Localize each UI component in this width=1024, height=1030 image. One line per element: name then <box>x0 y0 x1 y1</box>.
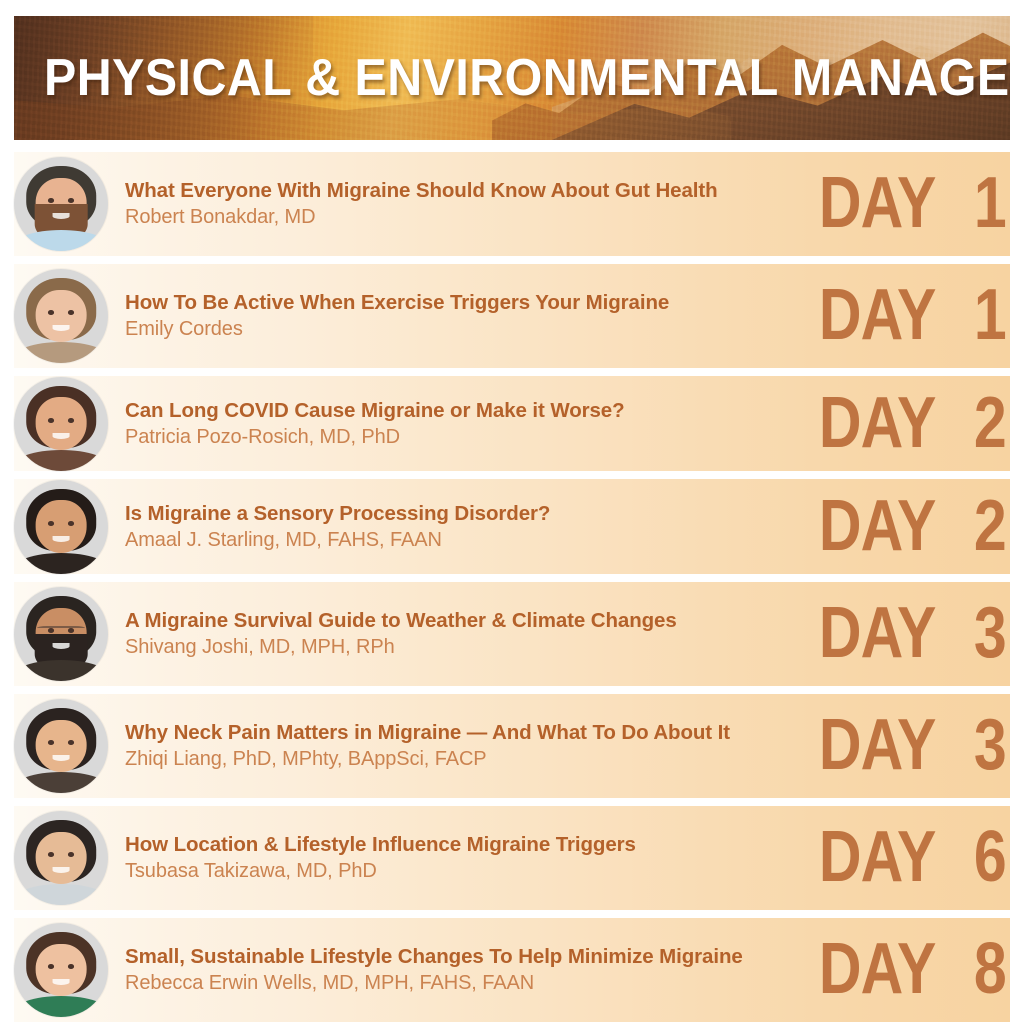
avatar-mouth <box>53 213 70 219</box>
session-title: Why Neck Pain Matters in Migraine — And … <box>125 720 814 746</box>
session-author: Zhiqi Liang, PhD, MPhty, BAppSci, FACP <box>125 747 814 772</box>
session-day-badge: DAY3 <box>806 715 1010 777</box>
avatar-mouth <box>53 755 70 761</box>
session-title: How To Be Active When Exercise Triggers … <box>125 290 814 316</box>
header-banner: PHYSICAL & ENVIRONMENTAL MANAGEMENT <box>14 16 1010 140</box>
avatar-face <box>14 269 108 363</box>
avatar-shoulders <box>14 996 108 1017</box>
avatar-shoulders <box>14 230 108 251</box>
day-label: DAY <box>818 715 935 777</box>
avatar-skin <box>36 832 87 885</box>
day-label: DAY <box>818 603 935 665</box>
session-day-badge: DAY1 <box>806 173 1010 235</box>
day-label: DAY <box>818 827 935 889</box>
session-row[interactable]: How Location & Lifestyle Influence Migra… <box>0 806 1024 910</box>
day-label: DAY <box>818 393 935 455</box>
session-row[interactable]: A Migraine Survival Guide to Weather & C… <box>0 582 1024 686</box>
avatar-glasses <box>37 626 86 636</box>
day-label: DAY <box>818 939 935 1001</box>
avatar-mouth <box>53 536 70 542</box>
day-number: 6 <box>968 827 1006 889</box>
session-row[interactable]: What Everyone With Migraine Should Know … <box>0 152 1024 256</box>
session-list: What Everyone With Migraine Should Know … <box>0 152 1024 1030</box>
avatar-face <box>14 377 108 471</box>
session-text: What Everyone With Migraine Should Know … <box>125 178 814 230</box>
session-author: Patricia Pozo-Rosich, MD, PhD <box>125 425 814 450</box>
session-day-badge: DAY8 <box>806 939 1010 1001</box>
avatar-face <box>14 923 108 1017</box>
day-label: DAY <box>818 496 935 558</box>
avatar-skin <box>36 944 87 997</box>
avatar-face <box>14 480 108 574</box>
avatar-shoulders <box>14 772 108 793</box>
avatar-mouth <box>53 867 70 873</box>
avatar-face <box>14 157 108 251</box>
session-author: Rebecca Erwin Wells, MD, MPH, FAHS, FAAN <box>125 971 814 996</box>
day-number: 2 <box>968 393 1006 455</box>
session-title: Is Migraine a Sensory Processing Disorde… <box>125 500 814 526</box>
session-row[interactable]: Why Neck Pain Matters in Migraine — And … <box>0 694 1024 798</box>
avatar-skin <box>36 290 87 343</box>
session-day-badge: DAY2 <box>806 496 1010 558</box>
avatar-shoulders <box>14 553 108 574</box>
avatar-shoulders <box>14 342 108 363</box>
session-text: A Migraine Survival Guide to Weather & C… <box>125 608 814 660</box>
avatar-amaal-starling <box>14 480 108 574</box>
avatar-robert-bonakdar <box>14 157 108 251</box>
session-title: How Location & Lifestyle Influence Migra… <box>125 832 814 858</box>
session-row[interactable]: Can Long COVID Cause Migraine or Make it… <box>0 376 1024 471</box>
avatar-face <box>14 811 108 905</box>
avatar-mouth <box>53 979 70 985</box>
avatar-face <box>14 587 108 681</box>
day-number: 8 <box>968 939 1006 1001</box>
session-row[interactable]: How To Be Active When Exercise Triggers … <box>0 264 1024 368</box>
session-author: Robert Bonakdar, MD <box>125 205 814 230</box>
avatar-face <box>14 699 108 793</box>
avatar-shoulders <box>14 884 108 905</box>
avatar-skin <box>36 500 87 553</box>
avatar-rebecca-erwin-wells <box>14 923 108 1017</box>
session-day-badge: DAY3 <box>806 603 1010 665</box>
session-text: How Location & Lifestyle Influence Migra… <box>125 832 814 884</box>
day-number: 3 <box>968 715 1006 777</box>
session-text: Is Migraine a Sensory Processing Disorde… <box>125 500 814 552</box>
avatar-emily-cordes <box>14 269 108 363</box>
session-title: Small, Sustainable Lifestyle Changes To … <box>125 944 814 970</box>
session-author: Amaal J. Starling, MD, FAHS, FAAN <box>125 528 814 553</box>
day-number: 2 <box>968 496 1006 558</box>
day-number: 1 <box>968 285 1006 347</box>
session-author: Shivang Joshi, MD, MPH, RPh <box>125 635 814 660</box>
page-title: PHYSICAL & ENVIRONMENTAL MANAGEMENT <box>44 16 926 140</box>
avatar-skin <box>36 720 87 773</box>
session-day-badge: DAY6 <box>806 827 1010 889</box>
avatar-patricia-pozo-rosich <box>14 377 108 471</box>
day-number: 1 <box>968 173 1006 235</box>
avatar-mouth <box>53 433 70 439</box>
avatar-shoulders <box>14 660 108 681</box>
avatar-zhiqi-liang <box>14 699 108 793</box>
session-text: Can Long COVID Cause Migraine or Make it… <box>125 397 814 449</box>
session-text: How To Be Active When Exercise Triggers … <box>125 290 814 342</box>
session-day-badge: DAY1 <box>806 285 1010 347</box>
avatar-tsubasa-takizawa <box>14 811 108 905</box>
avatar-mouth <box>53 325 70 331</box>
session-text: Small, Sustainable Lifestyle Changes To … <box>125 944 814 996</box>
session-author: Tsubasa Takizawa, MD, PhD <box>125 859 814 884</box>
avatar-mouth <box>53 643 70 649</box>
session-row[interactable]: Small, Sustainable Lifestyle Changes To … <box>0 918 1024 1022</box>
session-title: A Migraine Survival Guide to Weather & C… <box>125 608 814 634</box>
session-day-badge: DAY2 <box>806 393 1010 455</box>
session-author: Emily Cordes <box>125 317 814 342</box>
session-title: Can Long COVID Cause Migraine or Make it… <box>125 397 814 423</box>
session-row[interactable]: Is Migraine a Sensory Processing Disorde… <box>0 479 1024 574</box>
avatar-shivang-joshi <box>14 587 108 681</box>
day-label: DAY <box>818 285 935 347</box>
avatar-shoulders <box>14 450 108 471</box>
day-label: DAY <box>818 173 935 235</box>
day-number: 3 <box>968 603 1006 665</box>
avatar-skin <box>36 397 87 450</box>
session-title: What Everyone With Migraine Should Know … <box>125 178 814 204</box>
session-text: Why Neck Pain Matters in Migraine — And … <box>125 720 814 772</box>
